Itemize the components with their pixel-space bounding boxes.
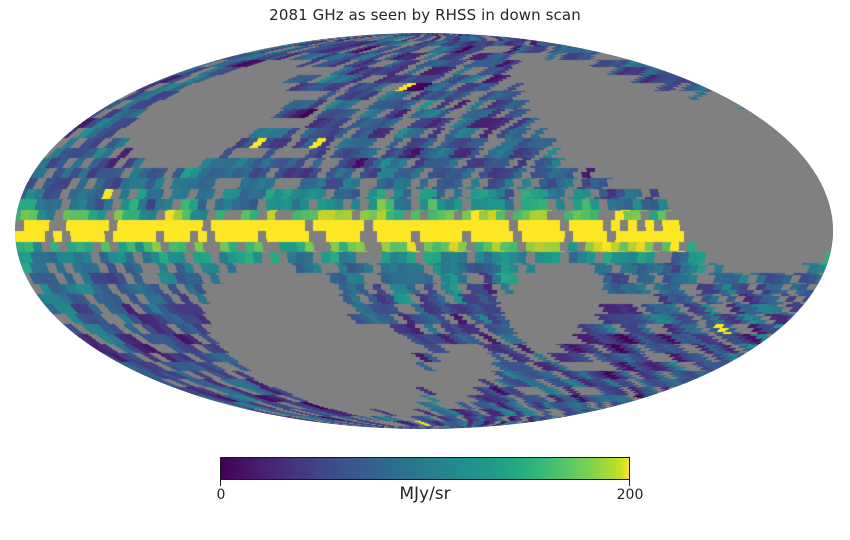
- map-ellipse-clip: [15, 33, 833, 429]
- colorbar-gradient: [220, 457, 630, 480]
- sky-map-figure: 2081 GHz as seen by RHSS in down scan 0 …: [0, 0, 850, 540]
- page-title: 2081 GHz as seen by RHSS in down scan: [0, 6, 850, 24]
- mollweide-map: [15, 33, 833, 429]
- colorbar-unit-label: MJy/sr: [220, 484, 630, 504]
- sky-heatmap-canvas: [15, 33, 833, 429]
- colorbar: [220, 457, 630, 480]
